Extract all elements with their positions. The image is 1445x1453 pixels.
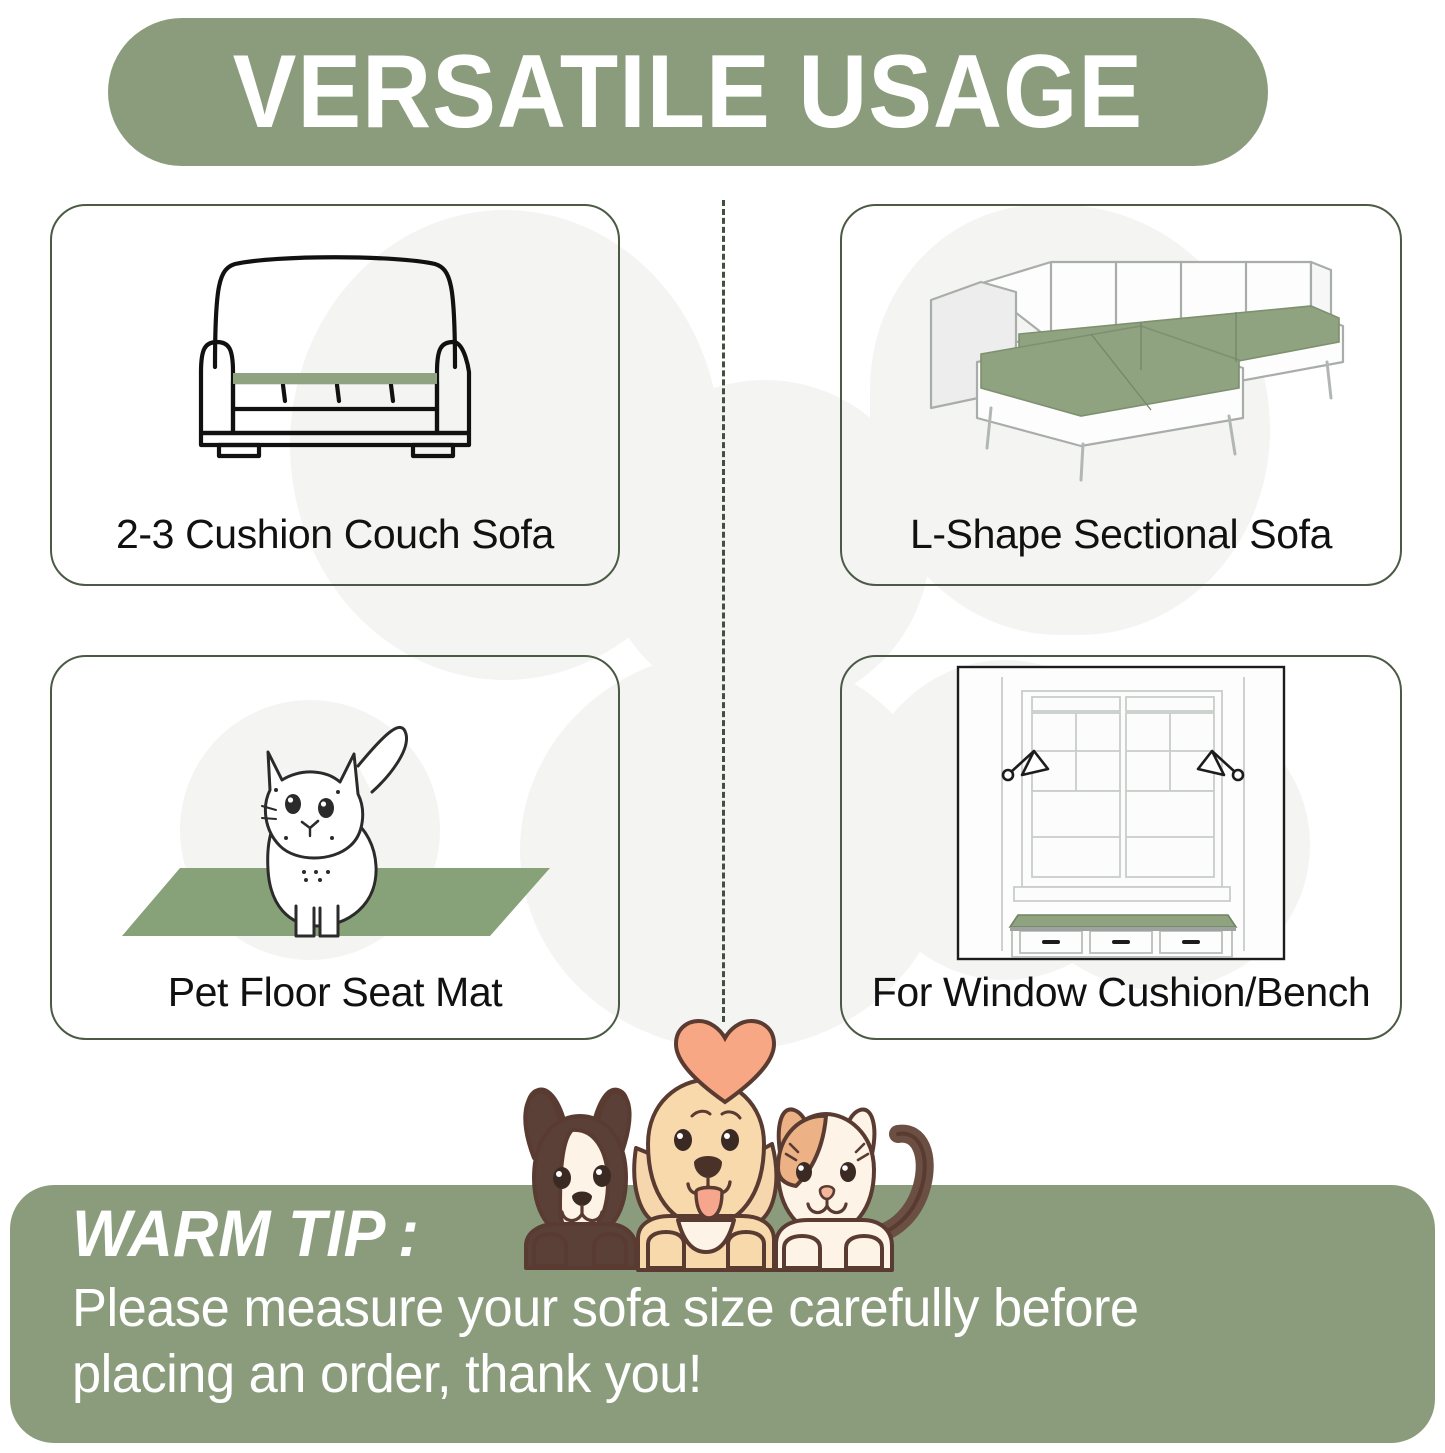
cat-on-mat-icon xyxy=(52,663,618,963)
sectional-sofa-icon xyxy=(842,212,1400,492)
usage-card-label: Pet Floor Seat Mat xyxy=(52,969,618,1016)
window-bench-icon xyxy=(842,663,1400,963)
title-banner: VERSATILE USAGE xyxy=(108,18,1268,166)
usage-card-label: L-Shape Sectional Sofa xyxy=(842,511,1400,558)
page-title: VERSATILE USAGE xyxy=(233,40,1143,144)
couch-sofa-icon xyxy=(52,212,618,492)
heart-icon xyxy=(670,1018,780,1108)
warm-tip-line-2: placing an order, thank you! xyxy=(72,1342,1336,1408)
usage-card-l-shape-sectional[interactable]: L-Shape Sectional Sofa xyxy=(840,204,1402,586)
usage-card-window-bench[interactable]: For Window Cushion/Bench xyxy=(840,655,1402,1040)
usage-card-label: For Window Cushion/Bench xyxy=(842,969,1400,1016)
infographic-root: VERSATILE USAGE xyxy=(0,0,1445,1453)
usage-card-label: 2-3 Cushion Couch Sofa xyxy=(52,511,618,558)
warm-tip-line-1: Please measure your sofa size carefully … xyxy=(72,1276,1336,1342)
pets-illustration xyxy=(490,1010,960,1280)
usage-card-pet-floor-mat[interactable]: Pet Floor Seat Mat xyxy=(50,655,620,1040)
usage-card-couch-sofa[interactable]: 2-3 Cushion Couch Sofa xyxy=(50,204,620,586)
vertical-dashed-divider xyxy=(722,200,725,1022)
